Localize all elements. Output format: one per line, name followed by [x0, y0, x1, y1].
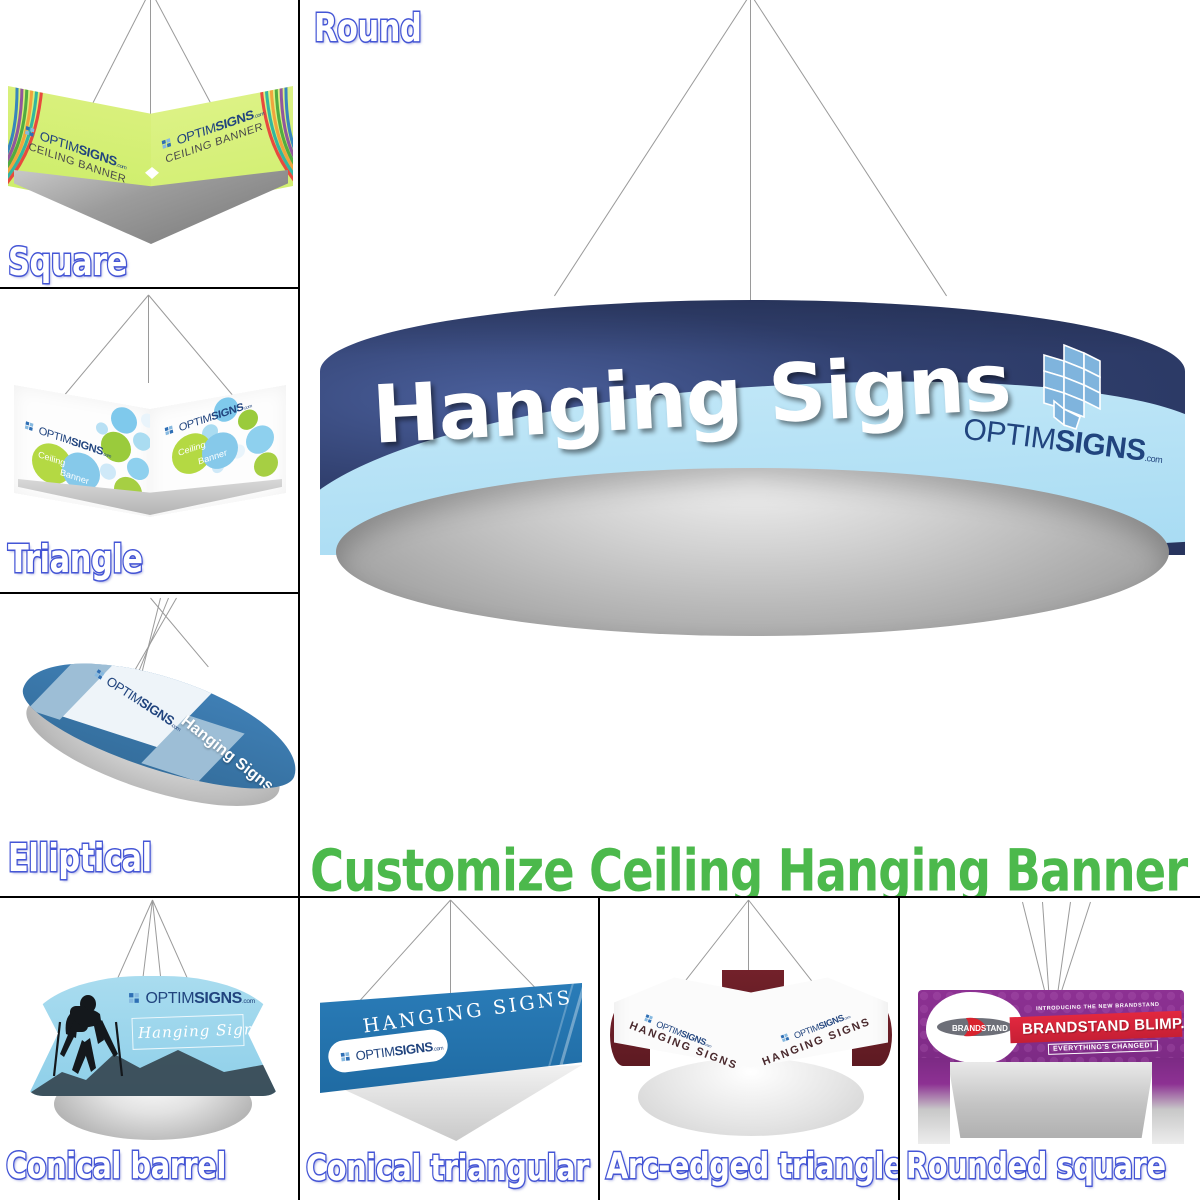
svg-text:BRANDSTAND: BRANDSTAND	[952, 1024, 1008, 1033]
round-hanging-banner: Hanging Signs OPTIMSIGNS.com	[320, 300, 1185, 630]
hanging-cable	[152, 900, 188, 979]
brand-tld: .com	[844, 1015, 852, 1021]
banner-bottom-interior	[948, 1062, 1154, 1138]
brand-name-part1: OPTIM	[145, 990, 194, 1007]
product-collage: OPTIMSIGNS.com CEILING BANNER	[0, 0, 1200, 1200]
brand-logo: OPTIMSIGNS.com	[962, 343, 1163, 471]
panel-triangle[interactable]: OPTIMSIGNS.com Ceiling Banner	[0, 289, 298, 592]
cube-grid-icon	[780, 1032, 792, 1044]
rounded-square-banner: BRANDSTAND INTRODUCING THE NEW BRANDSTAN…	[918, 990, 1184, 1150]
banner-face: BRANDSTAND INTRODUCING THE NEW BRANDSTAN…	[918, 990, 1184, 1066]
cube-grid-icon	[340, 1051, 352, 1063]
hanging-cable	[750, 0, 751, 304]
banner-face: OPTIMSIGNS.com HANGING SIGNS OPTIMSIGNS.…	[614, 970, 888, 1095]
brand-name-part2: SIGNS	[394, 1039, 434, 1059]
brand-tld: .com	[102, 451, 111, 459]
shape-label-conical-barrel: Conical barrel	[6, 1146, 226, 1187]
panel-rounded-square[interactable]: BRANDSTAND INTRODUCING THE NEW BRANDSTAN…	[900, 898, 1200, 1200]
arc-edged-triangle-banner: OPTIMSIGNS.com HANGING SIGNS OPTIMSIGNS.…	[614, 970, 888, 1160]
cube-grid-icon	[161, 137, 174, 151]
hanging-cable	[150, 598, 209, 668]
brand-tld: .com	[254, 111, 265, 120]
panel-arc-edged-triangle[interactable]: OPTIMSIGNS.com HANGING SIGNS OPTIMSIGNS.…	[600, 898, 898, 1200]
conical-barrel-banner: OPTIMSIGNS.com Hanging Signs	[28, 976, 278, 1151]
shape-label-conical-triangular: Conical triangular	[306, 1148, 589, 1189]
elliptical-hanging-banner: OPTIMSIGNS.com Hanging Signs	[10, 664, 295, 864]
cube-grid-icon	[128, 992, 141, 1005]
banner-side-right	[1152, 1058, 1184, 1144]
cube-grid-icon	[24, 420, 35, 433]
brand-name-part1: OPTIM	[355, 1044, 396, 1064]
conical-triangular-banner: HANGING SIGNS OPTIMSIGNS.com	[320, 983, 582, 1148]
cube-grid-icon	[643, 1014, 655, 1026]
brand-tld: .com	[116, 162, 127, 171]
shape-label-round: Round	[314, 6, 421, 50]
panel-round[interactable]: Hanging Signs OPTIMSIGNS.com	[300, 0, 1200, 896]
brand-tld: .com	[433, 1046, 444, 1053]
shape-label-square: Square	[8, 240, 127, 284]
hanging-cable	[554, 0, 751, 296]
panel-conical-triangular[interactable]: HANGING SIGNS OPTIMSIGNS.com Conical tri…	[300, 898, 598, 1200]
banner-title: HANGING SIGNS	[361, 986, 574, 1037]
hanging-cable	[750, 0, 947, 296]
page-headline: Customize Ceiling Hanging Banner	[310, 838, 1187, 896]
banner-bottom-interior	[336, 468, 1169, 636]
brand-name-part2: SIGNS	[1053, 424, 1147, 468]
hanging-cable	[450, 900, 451, 994]
banner-side-left	[918, 1058, 950, 1144]
cube-grid-icon	[24, 125, 37, 139]
shape-label-triangle: Triangle	[8, 537, 143, 581]
panel-elliptical[interactable]: OPTIMSIGNS.com Hanging Signs Elliptical	[0, 594, 298, 896]
shape-label-rounded-square: Rounded square	[906, 1146, 1166, 1187]
brand-logo: OPTIMSIGNS.com	[128, 990, 255, 1008]
brandstand-logo: BRANDSTAND	[936, 1014, 1014, 1040]
triangle-hanging-banner: OPTIMSIGNS.com Ceiling Banner	[14, 367, 286, 517]
square-hanging-banner: OPTIMSIGNS.com CEILING BANNER	[8, 62, 293, 242]
banner-face: OPTIMSIGNS.com Hanging Signs	[28, 976, 278, 1096]
panel-square[interactable]: OPTIMSIGNS.com CEILING BANNER	[0, 0, 298, 287]
panel-conical-barrel[interactable]: OPTIMSIGNS.com Hanging Signs Conical bar…	[0, 898, 298, 1200]
shape-label-elliptical: Elliptical	[8, 836, 152, 880]
brand-name-part2: SIGNS	[194, 990, 242, 1007]
cube-grid-icon	[164, 424, 175, 437]
brand-tld: .com	[242, 998, 255, 1005]
hanging-cable	[748, 900, 749, 978]
shape-label-arc-edged-triangle: Arc-edged triangle	[606, 1146, 898, 1187]
brand-tld: .com	[1144, 453, 1163, 465]
brand-tld: .com	[243, 403, 252, 411]
